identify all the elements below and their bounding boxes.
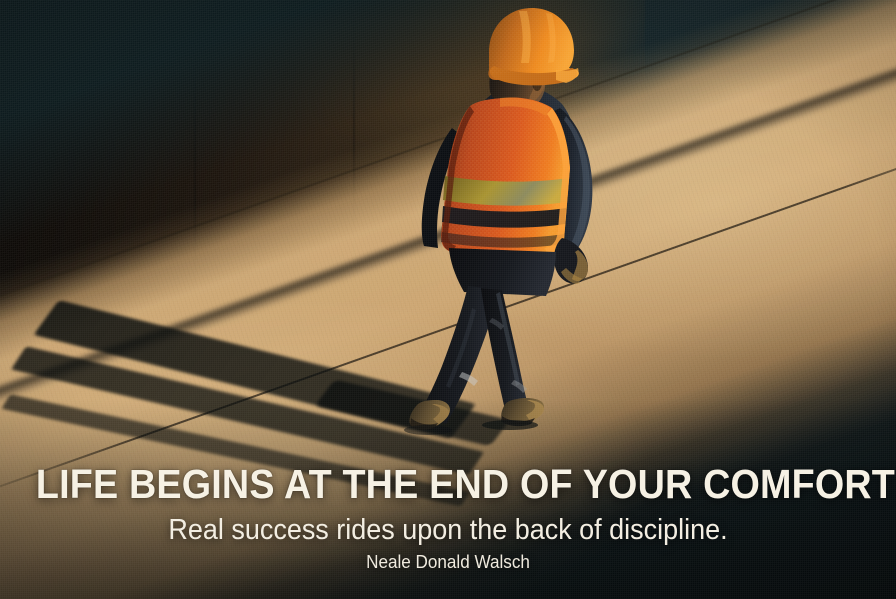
quote-attribution: Neale Donald Walsch [22, 553, 873, 573]
safety-vest [441, 97, 570, 256]
quote-poster: LIFE BEGINS AT THE END OF YOUR COMFORT Z… [0, 0, 896, 599]
work-glove [554, 238, 588, 284]
work-boots [404, 398, 544, 435]
quote-text-block: LIFE BEGINS AT THE END OF YOUR COMFORT Z… [0, 464, 896, 573]
hard-hat [488, 8, 579, 85]
quote-subline: Real success rides upon the back of disc… [31, 515, 864, 545]
quote-headline: LIFE BEGINS AT THE END OF YOUR COMFORT Z… [36, 464, 860, 506]
worker-pants [420, 248, 556, 424]
